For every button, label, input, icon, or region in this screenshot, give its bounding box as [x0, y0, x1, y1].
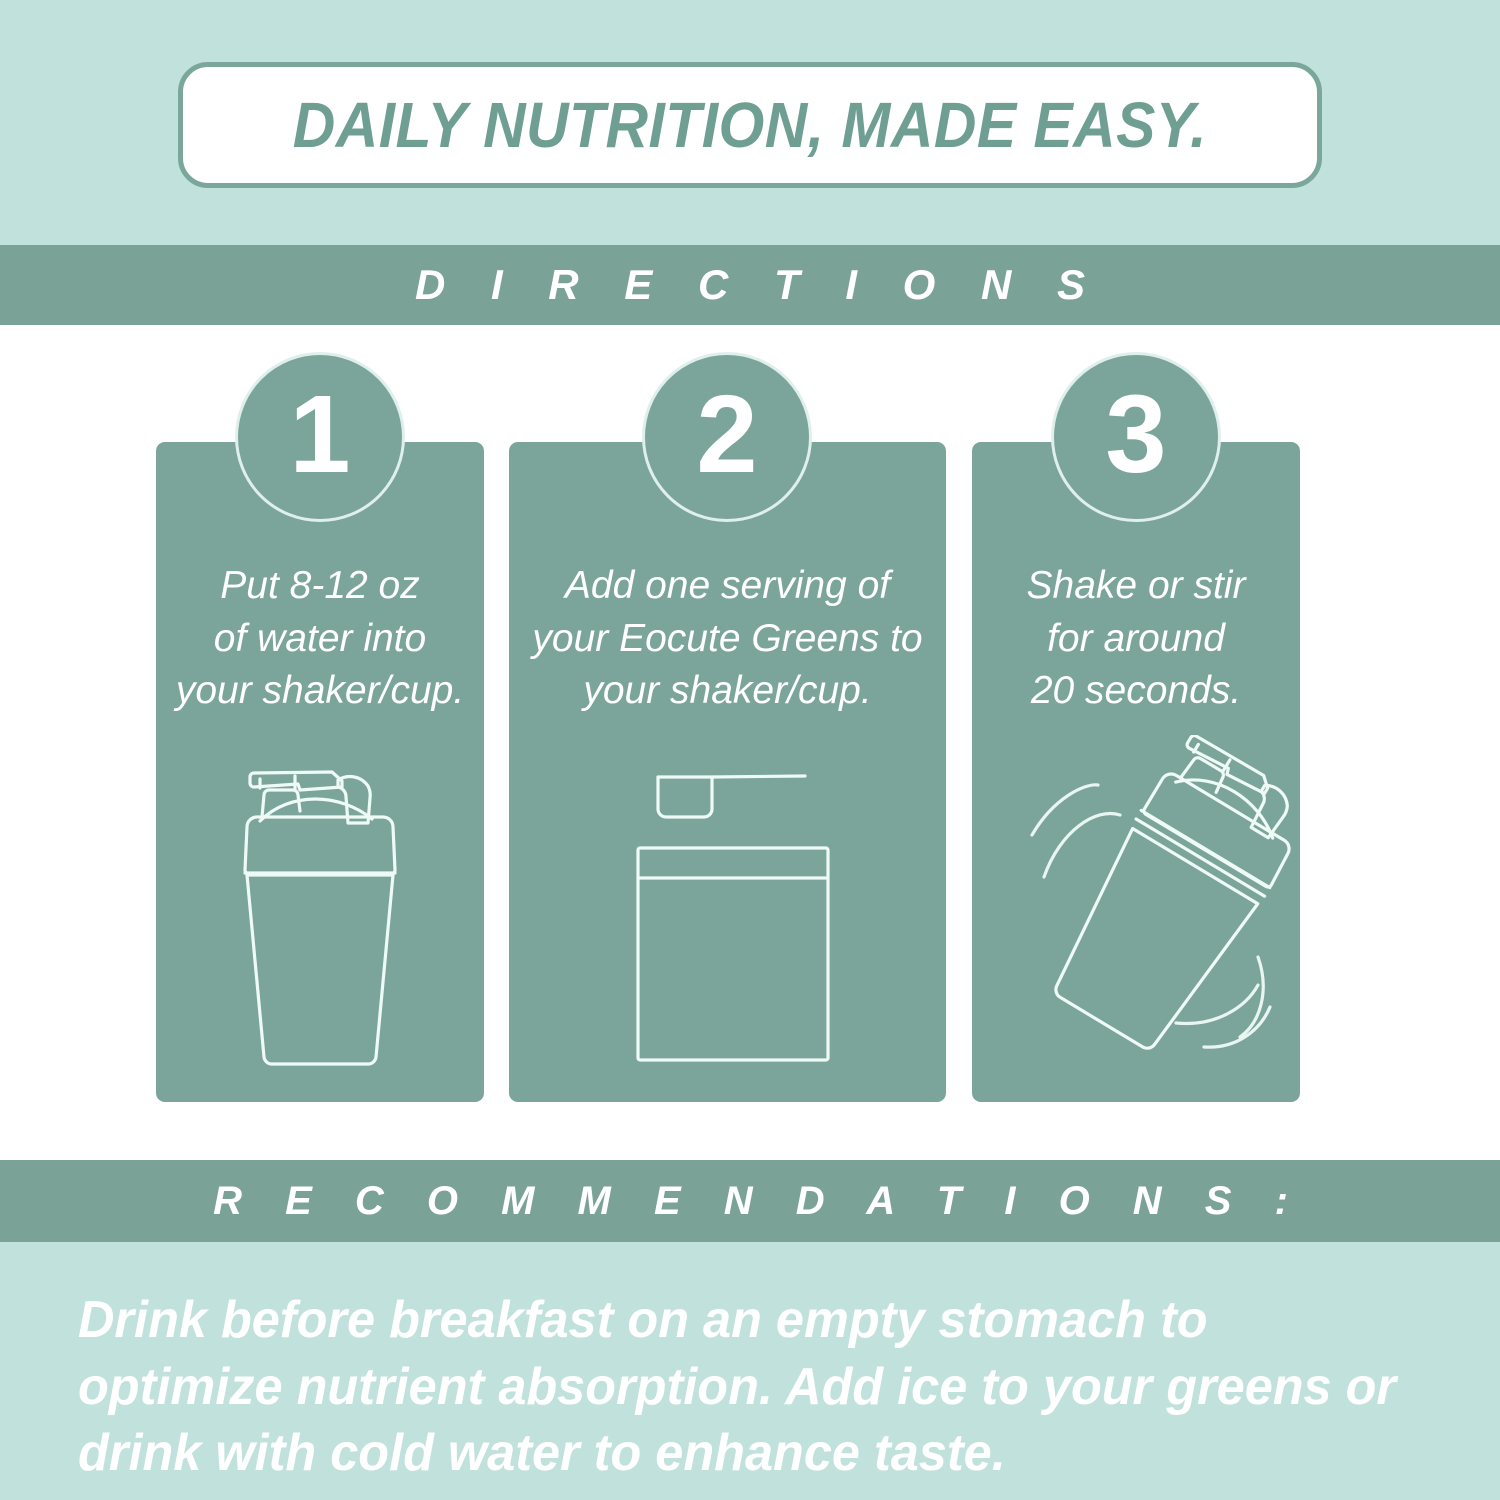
step-number-3: 3 [1105, 380, 1166, 490]
step-number-2: 2 [696, 380, 757, 490]
step-number-1: 1 [289, 380, 350, 490]
recommendations-label: R E C O M M E N D A T I O N S : [0, 1179, 1500, 1224]
step-badge-1: 1 [235, 352, 405, 522]
step-text-1: Put 8-12 oz of water into your shaker/cu… [156, 560, 484, 718]
title-box: DAILY NUTRITION, MADE EASY. [178, 62, 1322, 188]
recommendations-text: Drink before breakfast on an empty stoma… [78, 1287, 1397, 1487]
directions-section-band: D I R E C T I O N S [0, 245, 1500, 325]
step-text-3: Shake or stir for around 20 seconds. [972, 560, 1300, 718]
shaking-bottle-icon [1020, 735, 1300, 1085]
header-band: DAILY NUTRITION, MADE EASY. [0, 0, 1500, 245]
step-badge-2: 2 [642, 352, 812, 522]
step-text-2: Add one serving of your Eocute Greens to… [509, 560, 946, 718]
directions-label: D I R E C T I O N S [0, 261, 1500, 309]
scoop-and-pouch-icon [620, 745, 850, 1085]
step-badge-3: 3 [1051, 352, 1221, 522]
infographic-page: DAILY NUTRITION, MADE EASY. D I R E C T … [0, 0, 1500, 1500]
recommendations-section-band: R E C O M M E N D A T I O N S : [0, 1160, 1500, 1242]
page-title: DAILY NUTRITION, MADE EASY. [293, 88, 1207, 162]
recommendations-section: Drink before breakfast on an empty stoma… [0, 1242, 1500, 1500]
steps-section: 1 2 3 Put 8-12 oz of water into your sha… [0, 325, 1500, 1160]
shaker-bottle-icon [220, 755, 420, 1085]
